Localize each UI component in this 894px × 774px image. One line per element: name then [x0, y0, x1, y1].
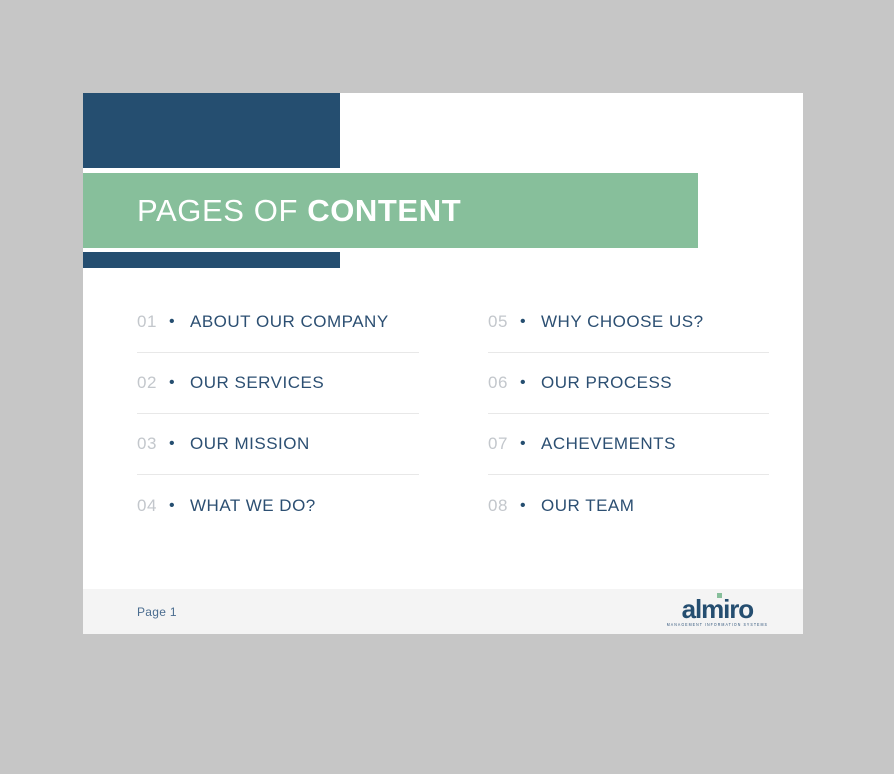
title-green-band: PAGES OF CONTENT — [83, 173, 698, 248]
toc-label: OUR PROCESS — [541, 373, 672, 393]
table-of-contents: 01 • ABOUT OUR COMPANY 05 • WHY CHOOSE U… — [137, 292, 769, 536]
list-item[interactable]: 02 • OUR SERVICES — [137, 353, 419, 414]
page-title-bold: CONTENT — [307, 193, 461, 228]
bullet-icon: • — [520, 375, 541, 391]
slide-canvas: PAGES OF CONTENT 01 • ABOUT OUR COMPANY … — [83, 93, 803, 634]
toc-label: OUR TEAM — [541, 496, 634, 516]
toc-number: 04 — [137, 496, 169, 516]
page-title: PAGES OF CONTENT — [137, 195, 461, 226]
toc-number: 07 — [488, 434, 520, 454]
bullet-icon: • — [520, 314, 541, 330]
logo-dot-icon — [717, 593, 722, 598]
bullet-icon: • — [169, 498, 190, 514]
toc-number: 08 — [488, 496, 520, 516]
almiro-logo: almiro MANAGEMENT INFORMATION SYSTEMS — [667, 596, 768, 628]
bullet-icon: • — [169, 436, 190, 452]
bullet-icon: • — [169, 375, 190, 391]
toc-number: 01 — [137, 312, 169, 332]
toc-label: ABOUT OUR COMPANY — [190, 312, 389, 332]
slide-footer: Page 1 almiro MANAGEMENT INFORMATION SYS… — [83, 589, 803, 634]
header-navy-block-bottom — [83, 252, 340, 268]
toc-number: 05 — [488, 312, 520, 332]
toc-label: OUR MISSION — [190, 434, 310, 454]
logo-wordmark: almiro — [667, 596, 768, 622]
list-item[interactable]: 04 • WHAT WE DO? — [137, 475, 419, 536]
toc-number: 03 — [137, 434, 169, 454]
toc-label: WHY CHOOSE US? — [541, 312, 704, 332]
list-item[interactable]: 07 • ACHEVEMENTS — [488, 414, 769, 475]
header-navy-block-top — [83, 93, 340, 168]
list-item[interactable]: 01 • ABOUT OUR COMPANY — [137, 292, 419, 353]
logo-tagline: MANAGEMENT INFORMATION SYSTEMS — [667, 623, 768, 627]
page-number-label: Page 1 — [137, 605, 177, 619]
bullet-icon: • — [520, 436, 541, 452]
toc-label: WHAT WE DO? — [190, 496, 316, 516]
toc-number: 02 — [137, 373, 169, 393]
toc-number: 06 — [488, 373, 520, 393]
page-title-light: PAGES OF — [137, 193, 298, 228]
bullet-icon: • — [169, 314, 190, 330]
list-item[interactable]: 08 • OUR TEAM — [488, 475, 769, 536]
toc-label: ACHEVEMENTS — [541, 434, 676, 454]
list-item[interactable]: 05 • WHY CHOOSE US? — [488, 292, 769, 353]
bullet-icon: • — [520, 498, 541, 514]
toc-label: OUR SERVICES — [190, 373, 324, 393]
list-item[interactable]: 03 • OUR MISSION — [137, 414, 419, 475]
list-item[interactable]: 06 • OUR PROCESS — [488, 353, 769, 414]
